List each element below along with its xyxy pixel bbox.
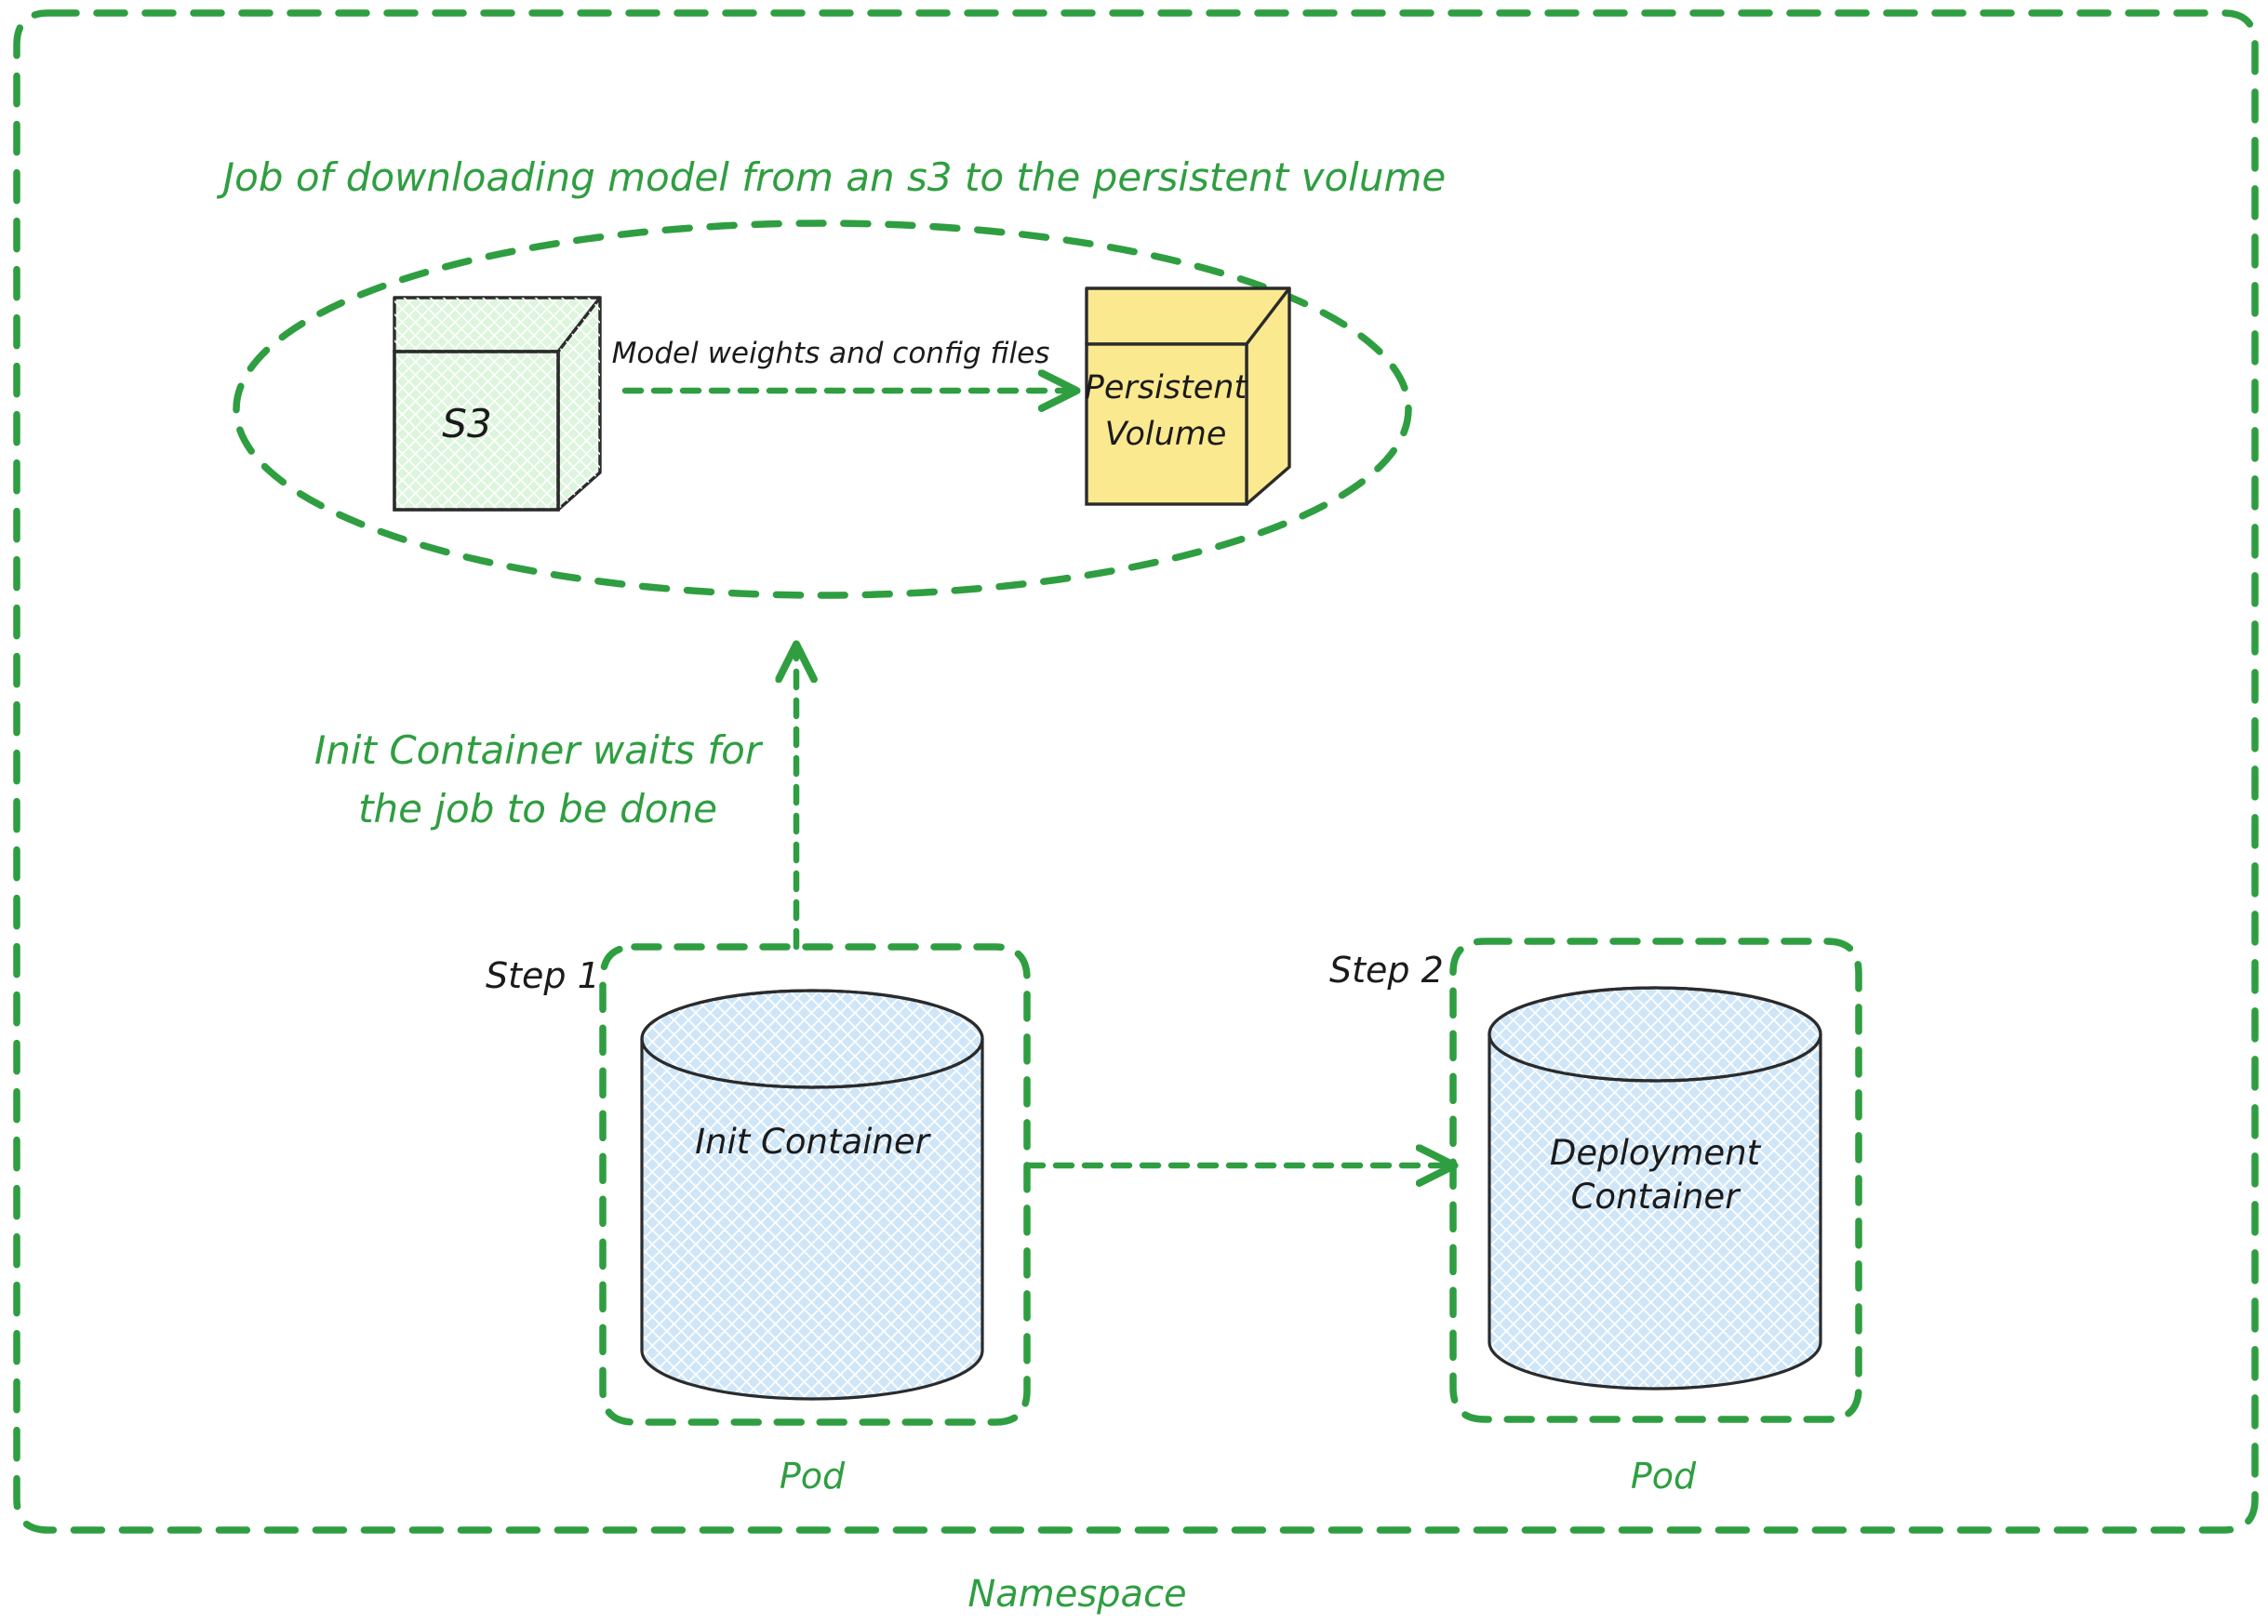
deployment-container-label-line2: Container <box>1571 1177 1742 1217</box>
diagram-svg: S3 Persistent Volume <box>0 0 2268 1624</box>
init-wait-label-line2: the job to be done <box>358 786 717 832</box>
persistent-volume-cube: Persistent Volume <box>1085 288 1289 504</box>
s3-cube-label: S3 <box>442 401 491 446</box>
step-2-label: Step 2 <box>1329 950 1444 991</box>
pod-2-label: Pod <box>1631 1456 1697 1497</box>
pod-1-label: Pod <box>780 1456 846 1497</box>
step-1-label: Step 1 <box>486 955 600 996</box>
job-group-title: Job of downloading model from an s3 to t… <box>217 154 1446 200</box>
deployment-container-label-line1: Deployment <box>1550 1133 1762 1173</box>
persistent-volume-label-line1: Persistent <box>1085 369 1248 406</box>
init-container-label: Init Container <box>695 1122 932 1162</box>
init-wait-label-line1: Init Container waits for <box>314 727 764 773</box>
deployment-container-cylinder: Deployment Container <box>1489 988 1821 1389</box>
s3-cube: S3 <box>394 298 600 510</box>
model-transfer-arrow-label: Model weights and config files <box>612 337 1050 370</box>
diagram-canvas: S3 Persistent Volume <box>0 0 2268 1624</box>
init-container-cylinder: Init Container <box>642 991 982 1399</box>
persistent-volume-label-line2: Volume <box>1105 416 1227 453</box>
namespace-label: Namespace <box>967 1573 1186 1616</box>
